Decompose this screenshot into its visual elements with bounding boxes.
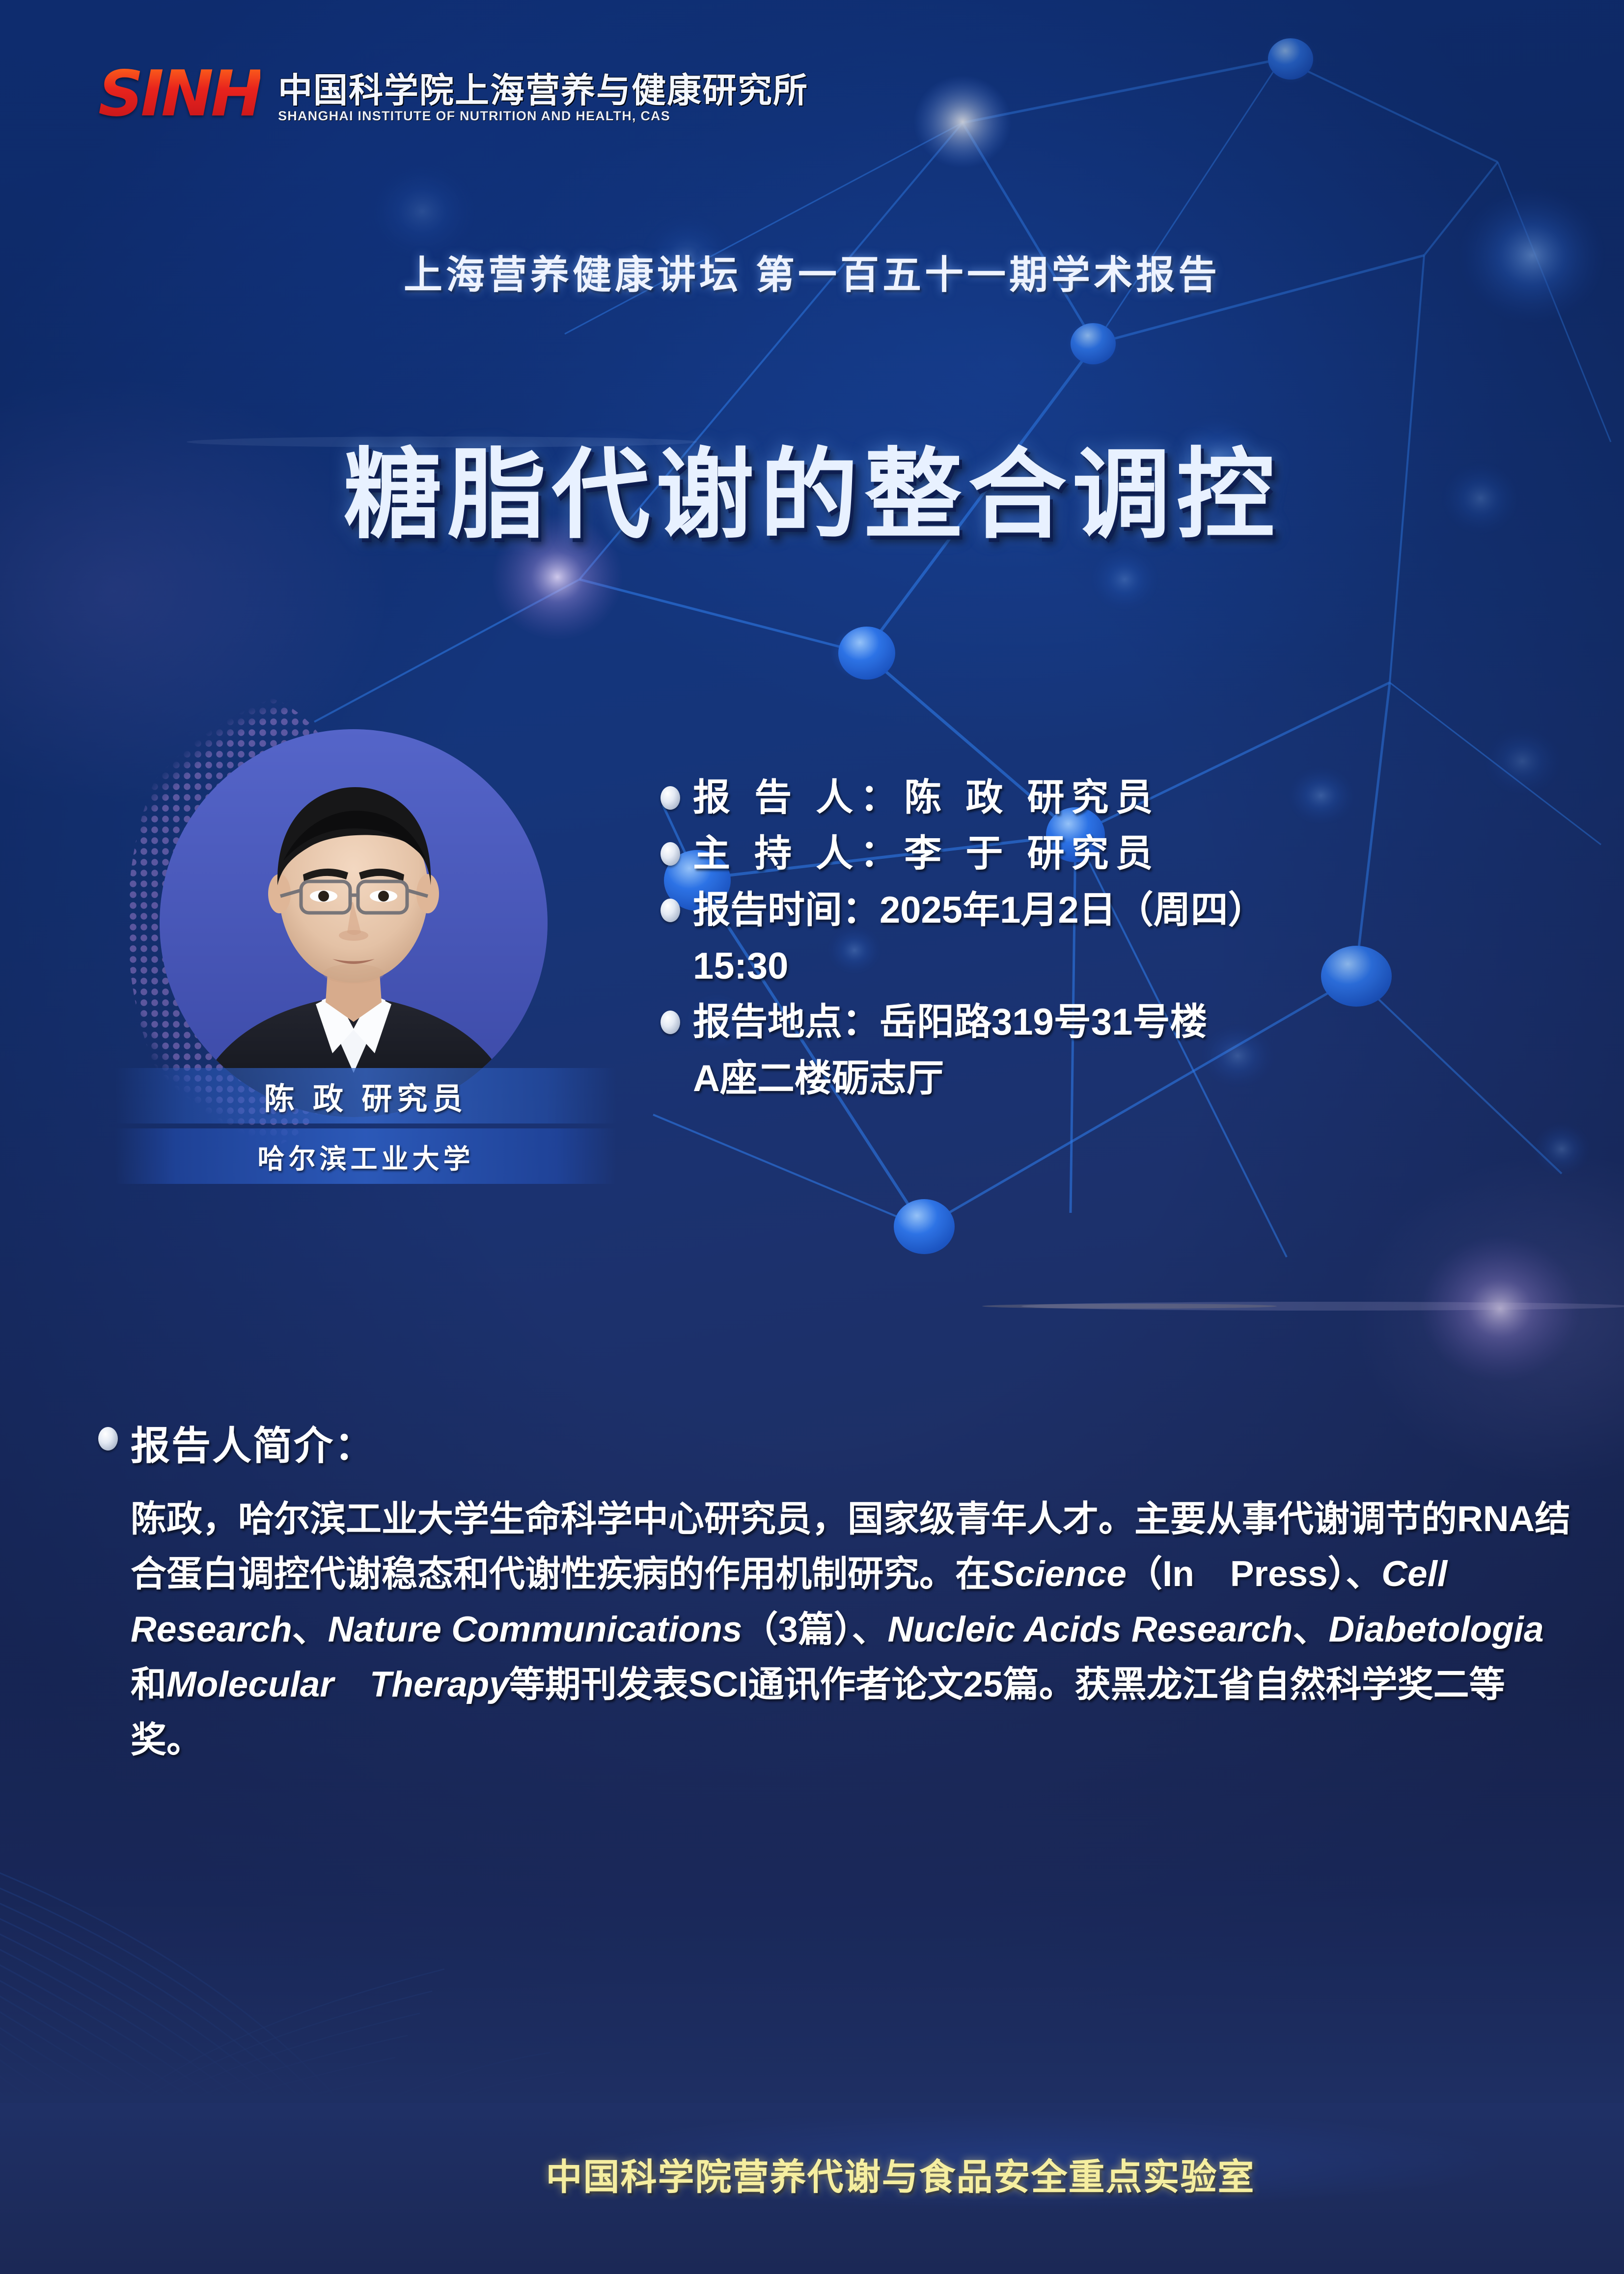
info-speaker-value: 陈 政 研究员: [904, 777, 1159, 819]
info-time-label: 报告时间：: [693, 889, 880, 931]
speaker-name-caption: 陈 政 研究员: [115, 1068, 616, 1123]
journal-name: Science: [991, 1554, 1127, 1594]
journal-name: Nucleic Acids Research: [888, 1610, 1293, 1649]
journal-name: Molecular Therapy: [166, 1665, 509, 1704]
bullet-dot-icon: [661, 899, 680, 922]
info-host-text: 主 持 人：李 于 研究员: [693, 829, 1549, 878]
bullet-dot-icon: [661, 786, 680, 810]
bio-heading-row: 报告人简介：: [98, 1414, 1571, 1471]
bullet-dot-icon: [661, 1011, 680, 1034]
bio-text-run: 和: [131, 1665, 166, 1704]
info-place-value-line2: A座二楼砺志厅: [693, 1054, 1549, 1103]
sinh-logo-mark: SINH: [98, 63, 260, 126]
journal-name: Nature Communications: [328, 1610, 743, 1649]
seminar-poster: SINH 中国科学院上海营养与健康研究所 SHANGHAI INSTITUTE …: [0, 0, 1624, 2274]
info-time-value: 2025年1月2日（周四）: [880, 889, 1266, 931]
info-place-text: 报告地点：岳阳路319号31号楼: [693, 998, 1549, 1047]
info-row-time: 报告时间：2025年1月2日（周四）: [661, 886, 1549, 935]
speaker-bio-section: 报告人简介： 陈政，哈尔滨工业大学生命科学中心研究员，国家级青年人才。主要从事代…: [98, 1414, 1571, 1768]
bio-text-run: 、: [1293, 1610, 1329, 1649]
institute-name-en: SHANGHAI INSTITUTE OF NUTRITION AND HEAL…: [278, 110, 808, 123]
info-row-speaker: 报 告 人：陈 政 研究员: [661, 773, 1549, 822]
bio-text-run: （In Press）、: [1127, 1554, 1381, 1594]
series-subtitle: 上海营养健康讲坛 第一百五十一期学术报告: [0, 243, 1624, 300]
info-time-value-line2: 15:30: [693, 942, 1549, 991]
info-place-value: 岳阳路319号31号楼: [880, 1001, 1207, 1043]
info-row-host: 主 持 人：李 于 研究员: [661, 829, 1549, 878]
speaker-photo-card: 陈 政 研究员 哈尔滨工业大学: [106, 690, 626, 1269]
footer-lab-name: 中国科学院营养代谢与食品安全重点实验室: [0, 2148, 1624, 2200]
bullet-dot-icon: [661, 842, 680, 866]
speaker-portrait-photo: [160, 729, 548, 1117]
event-info-list: 报 告 人：陈 政 研究员 主 持 人：李 于 研究员 报告时间：2025年1月…: [661, 773, 1549, 1110]
institute-logo: SINH 中国科学院上海营养与健康研究所 SHANGHAI INSTITUTE …: [98, 63, 808, 126]
info-row-place: 报告地点：岳阳路319号31号楼: [661, 998, 1549, 1047]
page-title: 糖脂代谢的整合调控: [0, 415, 1624, 557]
bio-text-run: （3篇）、: [742, 1610, 887, 1649]
bio-heading: 报告人简介：: [131, 1414, 375, 1471]
institute-name-block: 中国科学院上海营养与健康研究所 SHANGHAI INSTITUTE OF NU…: [278, 73, 808, 126]
info-time-text: 报告时间：2025年1月2日（周四）: [693, 886, 1549, 935]
bio-text-run: 、: [292, 1610, 328, 1649]
journal-name: Diabetologia: [1329, 1610, 1544, 1649]
institute-name-cn: 中国科学院上海营养与健康研究所: [278, 73, 808, 108]
info-place-label: 报告地点：: [693, 1001, 880, 1043]
speaker-affiliation-caption: 哈尔滨工业大学: [115, 1128, 616, 1184]
info-speaker-text: 报 告 人：陈 政 研究员: [693, 773, 1549, 822]
info-speaker-label: 报 告 人：: [693, 777, 904, 819]
info-host-label: 主 持 人：: [693, 833, 904, 875]
bullet-dot-icon: [98, 1427, 118, 1451]
bio-paragraph: 陈政，哈尔滨工业大学生命科学中心研究员，国家级青年人才。主要从事代谢调节的RNA…: [131, 1492, 1571, 1768]
info-host-value: 李 于 研究员: [904, 833, 1159, 875]
